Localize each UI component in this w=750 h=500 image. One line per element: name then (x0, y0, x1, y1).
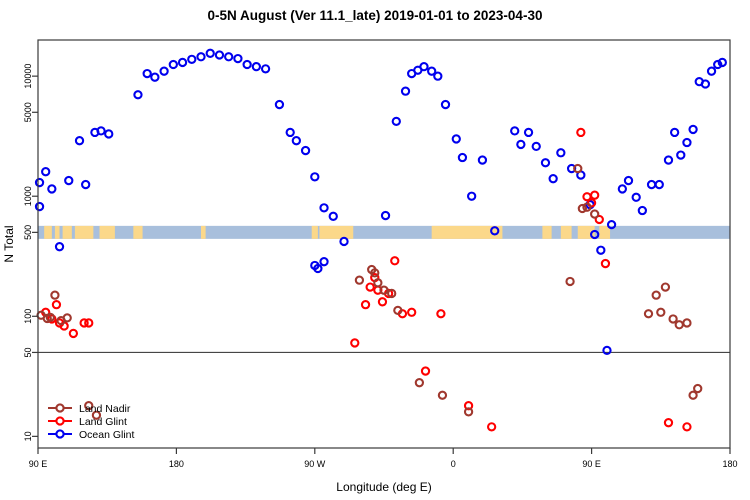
data-point (422, 367, 429, 374)
data-point (362, 301, 369, 308)
y-tick-label: 50 (23, 347, 33, 357)
data-point (356, 277, 363, 284)
data-point (82, 181, 89, 188)
data-point (488, 423, 495, 430)
data-point (65, 177, 72, 184)
data-point (391, 257, 398, 264)
surface-band-land-segment (63, 226, 72, 239)
data-point (689, 126, 696, 133)
data-point (653, 292, 660, 299)
data-point (619, 185, 626, 192)
surface-band-land-segment (75, 226, 93, 239)
data-point (437, 310, 444, 317)
data-point (48, 185, 55, 192)
data-point (244, 61, 251, 68)
surface-band-land-segment (133, 226, 142, 239)
data-point (340, 238, 347, 245)
x-axis-label: Longitude (deg E) (336, 480, 431, 494)
surface-band-land-segment (312, 226, 318, 239)
plot-frame (38, 40, 730, 448)
data-point (597, 247, 604, 254)
y-tick-label: 500 (23, 225, 33, 240)
data-point (420, 63, 427, 70)
data-point (591, 210, 598, 217)
data-point (276, 101, 283, 108)
data-point (662, 284, 669, 291)
surface-band-land-segment (55, 226, 60, 239)
data-point (517, 141, 524, 148)
surface-band-land-segment (561, 226, 572, 239)
x-tick-label: 90 W (304, 459, 326, 469)
data-point (320, 204, 327, 211)
data-point (311, 173, 318, 180)
legend-marker-land-glint (56, 417, 63, 424)
x-tick-label: 90 E (29, 459, 48, 469)
data-point (170, 61, 177, 68)
data-point (479, 156, 486, 163)
data-point (577, 129, 584, 136)
data-point (683, 319, 690, 326)
plot-canvas: 0-5N August (Ver 11.1_late) 2019-01-01 t… (0, 0, 750, 500)
x-tick-label: 180 (722, 459, 737, 469)
data-point (234, 55, 241, 62)
data-point (683, 423, 690, 430)
data-point (645, 310, 652, 317)
data-point (633, 194, 640, 201)
y-tick-label: 1000 (23, 186, 33, 206)
legend-label-land-glint: Land Glint (79, 416, 127, 428)
data-point (439, 392, 446, 399)
data-point (53, 301, 60, 308)
data-point (657, 309, 664, 316)
data-point (225, 53, 232, 60)
data-point (416, 379, 423, 386)
data-point (51, 292, 58, 299)
data-point (625, 177, 632, 184)
data-point (602, 260, 609, 267)
y-axis-label: N Total (2, 225, 16, 262)
x-tick-label: 90 E (582, 459, 601, 469)
x-tick-label: 180 (169, 459, 184, 469)
legend-label-land-nadir: Land Nadir (79, 403, 131, 415)
data-point (689, 392, 696, 399)
data-point (671, 129, 678, 136)
data-point (393, 118, 400, 125)
data-point (566, 278, 573, 285)
data-point (676, 321, 683, 328)
legend-marker-ocean-glint (56, 430, 63, 437)
data-point (70, 330, 77, 337)
data-point (76, 137, 83, 144)
chart-title: 0-5N August (Ver 11.1_late) 2019-01-01 t… (208, 8, 543, 23)
scatter-plot-figure: 0-5N August (Ver 11.1_late) 2019-01-01 t… (0, 0, 750, 500)
data-point (542, 159, 549, 166)
data-point (287, 129, 294, 136)
data-point (453, 135, 460, 142)
y-tick-label: 100 (23, 309, 33, 324)
y-tick-label: 5000 (23, 102, 33, 122)
data-point (557, 149, 564, 156)
data-point (402, 88, 409, 95)
data-point (216, 51, 223, 58)
surface-band-land-segment (100, 226, 115, 239)
data-point (434, 73, 441, 80)
data-point (442, 101, 449, 108)
data-point (382, 212, 389, 219)
data-point (330, 213, 337, 220)
y-tick-label: 10000 (23, 64, 33, 89)
data-point (151, 74, 158, 81)
surface-band-land-segment (319, 226, 353, 239)
data-point (36, 203, 43, 210)
data-point (677, 152, 684, 159)
data-point (550, 175, 557, 182)
legend-label-ocean-glint: Ocean Glint (79, 429, 135, 441)
data-point (525, 129, 532, 136)
data-point (408, 309, 415, 316)
data-point (639, 207, 646, 214)
data-point (134, 91, 141, 98)
data-point (591, 192, 598, 199)
data-point (656, 181, 663, 188)
surface-band-land-segment (542, 226, 551, 239)
data-point (197, 53, 204, 60)
data-point (42, 168, 49, 175)
surface-band-land-segment (44, 226, 52, 239)
data-point (262, 65, 269, 72)
data-point (648, 181, 655, 188)
data-point (105, 130, 112, 137)
legend-marker-land-nadir (56, 404, 63, 411)
data-point (207, 50, 214, 57)
data-point (302, 147, 309, 154)
data-point (670, 315, 677, 322)
data-point (351, 339, 358, 346)
data-point (320, 258, 327, 265)
data-point (36, 179, 43, 186)
data-point (708, 68, 715, 75)
data-point (144, 70, 151, 77)
data-point (665, 419, 672, 426)
data-point (161, 68, 168, 75)
data-point (293, 137, 300, 144)
data-point (56, 243, 63, 250)
y-tick-label: 10 (23, 431, 33, 441)
data-point (367, 284, 374, 291)
data-point (459, 154, 466, 161)
data-point (694, 385, 701, 392)
x-tick-label: 0 (451, 459, 456, 469)
data-point (665, 156, 672, 163)
surface-band-land-segment (201, 226, 206, 239)
data-point (683, 139, 690, 146)
data-point (533, 143, 540, 150)
data-point (468, 193, 475, 200)
data-point (253, 63, 260, 70)
data-point (511, 127, 518, 134)
data-point (179, 59, 186, 66)
data-point (379, 298, 386, 305)
data-point (188, 56, 195, 63)
